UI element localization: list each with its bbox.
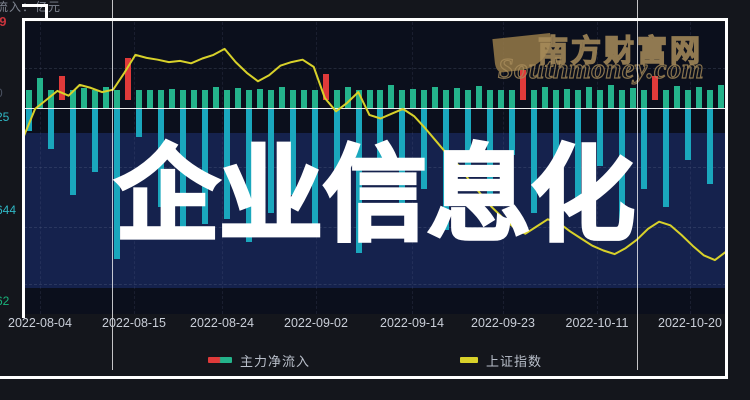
legend-marker-bar-icon [208, 357, 232, 363]
legend-label: 主力净流入 [240, 351, 310, 370]
crosshair-vertical-line [637, 0, 638, 370]
x-axis-tick-label: 2022-10-20 [658, 316, 722, 330]
plot-inner [24, 22, 726, 314]
x-axis-tick-label: 2022-08-04 [8, 316, 72, 330]
y-axis-tick-label: 25 [0, 110, 9, 124]
y-axis-tick-label: 644 [0, 203, 16, 217]
chart-screenshot: 流入：亿元 39 25064462 南方财富网 Southmoney.com 企… [0, 0, 750, 400]
legend-marker-line-icon [460, 357, 478, 363]
x-axis-tick-label: 2022-09-23 [471, 316, 535, 330]
x-axis-tick-label: 2022-08-15 [102, 316, 166, 330]
x-axis-tick-label: 2022-10-11 [565, 316, 628, 330]
legend-item[interactable]: 上证指数 [460, 351, 542, 370]
y-axis-tick-label: 0 [0, 86, 3, 100]
x-axis-tick-label: 2022-09-14 [380, 316, 444, 330]
selection-frame-segment [45, 4, 48, 20]
selection-frame-segment [0, 376, 728, 379]
inflow-top-value: 39 [0, 14, 6, 29]
chart-plot-area[interactable] [24, 22, 726, 314]
y-axis-tick-label: 62 [0, 294, 9, 308]
chart-legend: 主力净流入上证指数 [0, 348, 750, 372]
inflow-unit-label: 流入：亿元 [0, 0, 61, 15]
line-series-shanghai-index [24, 22, 726, 314]
x-axis-tick-label: 2022-09-02 [284, 316, 348, 330]
legend-label: 上证指数 [486, 351, 542, 370]
selection-frame-segment [22, 18, 728, 21]
x-axis: 2022-08-042022-08-152022-08-242022-09-02… [0, 316, 750, 340]
crosshair-vertical-line [112, 0, 113, 370]
x-axis-tick-label: 2022-08-24 [190, 316, 254, 330]
selection-frame-segment [22, 18, 25, 318]
legend-item[interactable]: 主力净流入 [208, 351, 310, 370]
